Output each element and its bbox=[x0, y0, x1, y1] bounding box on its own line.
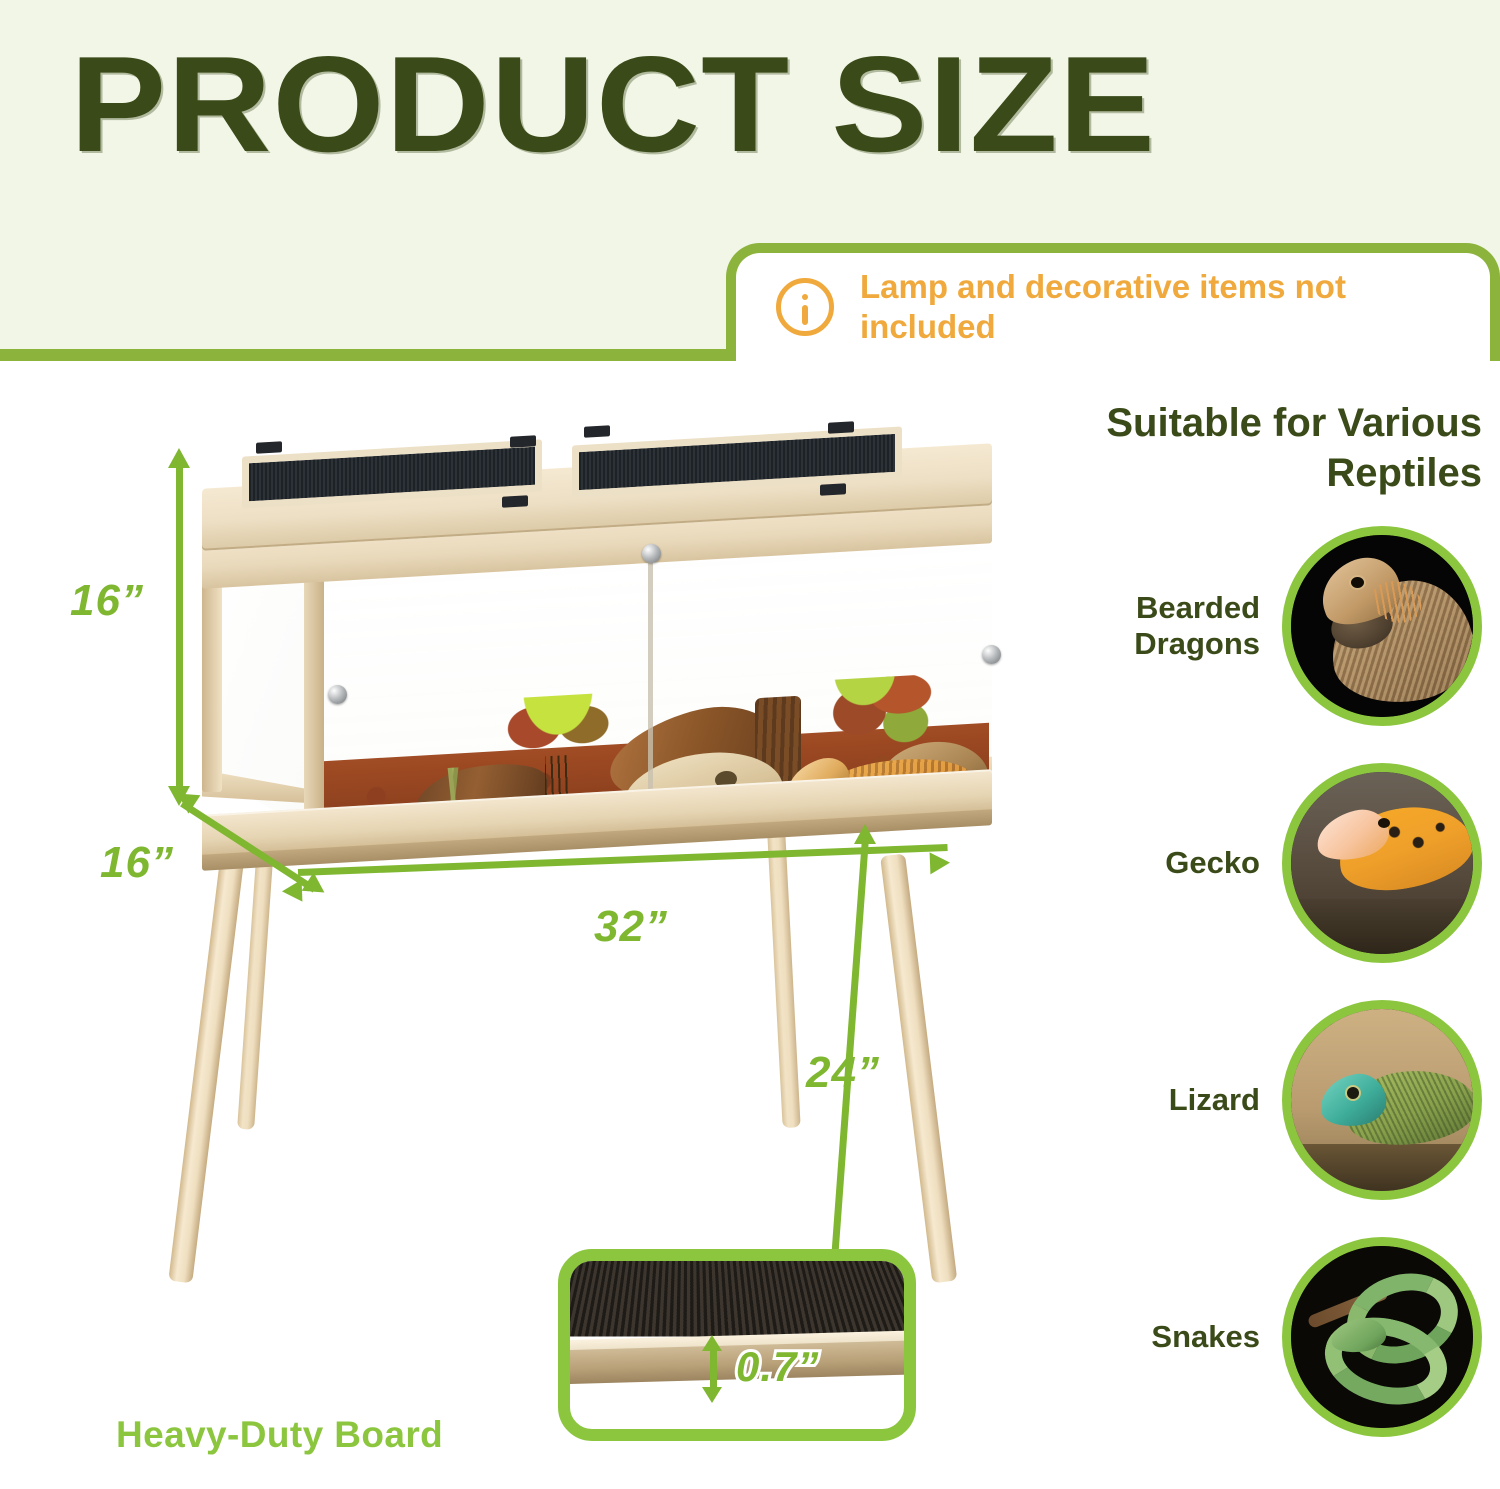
side-post-inner bbox=[304, 558, 324, 830]
sidebar-heading: Suitable for Various Reptiles bbox=[1012, 398, 1482, 498]
page-title: PRODUCT SIZE bbox=[70, 36, 1500, 172]
width-arrow-right bbox=[930, 852, 951, 875]
leg-front-left bbox=[168, 859, 244, 1284]
depth-dimension-label: 16” bbox=[100, 838, 174, 888]
thickness-dimension-line bbox=[710, 1345, 717, 1389]
reptile-label: Snakes bbox=[1151, 1319, 1260, 1355]
board-caption: Heavy-Duty Board bbox=[116, 1414, 443, 1456]
door-knob-left bbox=[328, 685, 347, 704]
leg-front-right bbox=[880, 853, 957, 1283]
reptile-item-snakes: Snakes bbox=[1012, 1231, 1482, 1443]
leg-height-arrow-top bbox=[854, 824, 876, 844]
door-knob-mid bbox=[642, 544, 661, 563]
board-mesh-surface bbox=[558, 1257, 916, 1336]
artificial-plant-right bbox=[811, 671, 939, 757]
reptile-label: Lizard bbox=[1169, 1082, 1260, 1118]
reptile-item-lizard: Lizard bbox=[1012, 994, 1482, 1206]
vent-hinge bbox=[502, 495, 528, 507]
notice-banner: Lamp and decorative items not included bbox=[726, 243, 1500, 361]
height-arrow-top bbox=[168, 448, 190, 468]
snake-photo bbox=[1282, 1237, 1482, 1437]
info-icon bbox=[776, 278, 834, 336]
gecko-photo bbox=[1282, 763, 1482, 963]
vent-hinge bbox=[510, 435, 536, 447]
height-dimension-label: 16” bbox=[70, 576, 144, 626]
vent-hinge bbox=[256, 441, 282, 453]
leg-height-dimension-label: 24” bbox=[806, 1048, 880, 1098]
board-thickness-label: 0.7” bbox=[736, 1343, 819, 1391]
leg-back-right bbox=[767, 828, 801, 1129]
width-arrow-left bbox=[282, 880, 303, 903]
bearded-dragon-photo bbox=[1282, 526, 1482, 726]
vent-hinge bbox=[584, 425, 610, 437]
lizard-photo bbox=[1282, 1000, 1482, 1200]
reptile-label: Gecko bbox=[1165, 845, 1260, 881]
width-dimension-label: 32” bbox=[594, 902, 668, 952]
leg-back-left bbox=[237, 829, 275, 1129]
door-knob-right bbox=[982, 645, 1001, 664]
terrarium-cabinet bbox=[180, 440, 1000, 870]
thickness-arrow-bottom bbox=[702, 1387, 722, 1403]
heavy-duty-board-inset: 0.7” bbox=[558, 1249, 916, 1441]
vent-hinge bbox=[828, 421, 854, 433]
height-dimension-line bbox=[176, 462, 183, 792]
vent-hinge bbox=[820, 483, 846, 495]
notice-text: Lamp and decorative items not included bbox=[860, 267, 1470, 348]
reptile-item-bearded-dragons: Bearded Dragons bbox=[1012, 520, 1482, 732]
reptile-item-gecko: Gecko bbox=[1012, 757, 1482, 969]
